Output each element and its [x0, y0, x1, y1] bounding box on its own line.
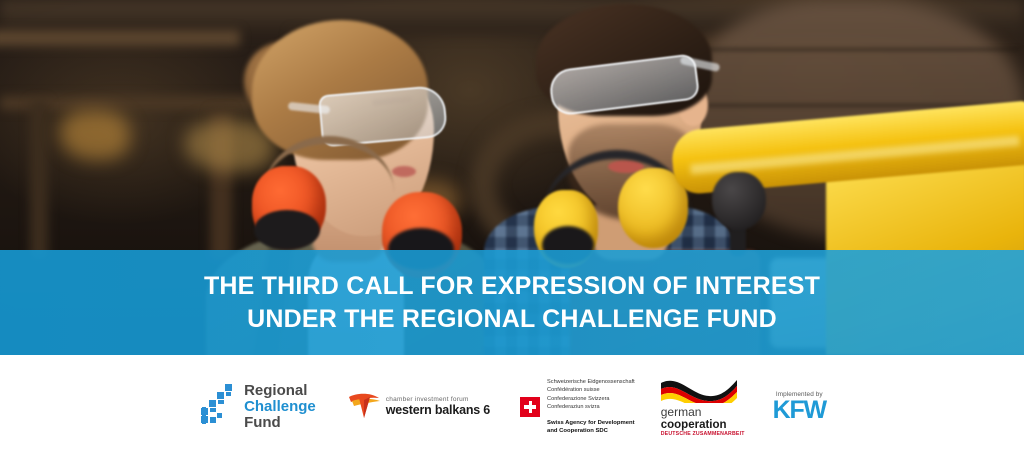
logo-footer: Regional Challenge Fund chamber invest — [0, 355, 1024, 459]
swiss-line-it: Confederazione Svizzera — [547, 395, 635, 404]
logo-regional-challenge-fund[interactable]: Regional Challenge Fund — [198, 383, 332, 431]
logo-kfw[interactable]: Implemented by KFW — [757, 391, 826, 423]
swiss-wordmark: Schweizerische Eidgenossenschaft Confédé… — [547, 378, 635, 436]
rcf-line-2: Challenge — [244, 399, 316, 415]
logo-western-balkans-6[interactable]: chamber investment forum western balkans… — [332, 388, 506, 425]
arrow-swoosh-icon — [348, 388, 382, 425]
german-line-1: german — [661, 406, 745, 419]
logo-row: Regional Challenge Fund chamber invest — [198, 377, 826, 437]
campaign-banner: THE THIRD CALL FOR EXPRESSION OF INTERES… — [0, 0, 1024, 459]
sdc-line-2: and Cooperation SDC — [547, 427, 635, 436]
rcf-line-3: Fund — [244, 415, 316, 431]
kfw-wordmark: KFW — [773, 398, 826, 423]
swiss-cross-icon — [520, 397, 540, 417]
logo-swiss-confederation[interactable]: Schweizerische Eidgenossenschaft Confédé… — [506, 378, 649, 436]
german-line-3: DEUTSCHE ZUSAMMENARBEIT — [661, 432, 745, 437]
wb6-name: western balkans 6 — [386, 404, 490, 417]
headline-line-1: THE THIRD CALL FOR EXPRESSION OF INTERES… — [204, 270, 820, 303]
swiss-line-fr: Confédération suisse — [547, 386, 635, 395]
headline-line-2: UNDER THE REGIONAL CHALLENGE FUND — [247, 303, 777, 336]
german-line-2: cooperation — [661, 419, 745, 431]
pixel-r-icon — [198, 383, 238, 430]
swiss-line-rm: Confederaziun svizra — [547, 403, 635, 412]
headline-band: THE THIRD CALL FOR EXPRESSION OF INTERES… — [0, 250, 1024, 355]
sdc-line-1: Swiss Agency for Development — [547, 419, 635, 428]
rcf-line-1: Regional — [244, 383, 316, 399]
german-flag-swoosh-icon — [661, 377, 737, 403]
wb6-wordmark: chamber investment forum western balkans… — [386, 397, 490, 417]
swiss-line-de: Schweizerische Eidgenossenschaft — [547, 378, 635, 387]
logo-german-cooperation[interactable]: german cooperation DEUTSCHE ZUSAMMENARBE… — [649, 377, 757, 437]
rcf-wordmark: Regional Challenge Fund — [244, 383, 316, 431]
german-wordmark: german cooperation DEUTSCHE ZUSAMMENARBE… — [661, 406, 745, 437]
